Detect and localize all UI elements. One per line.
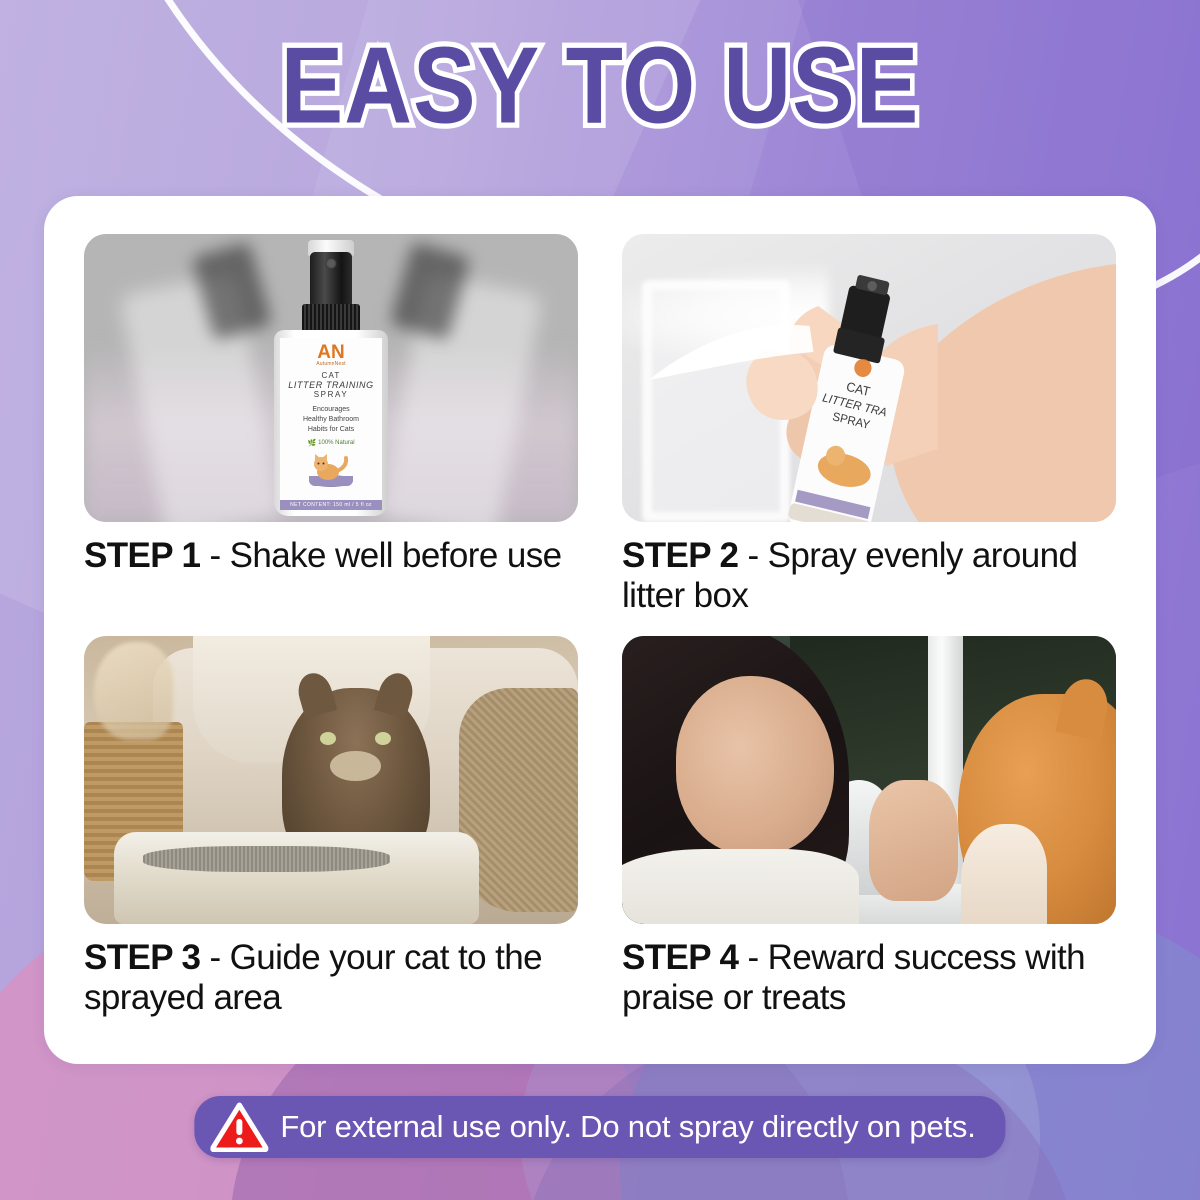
step-caption-2: STEP 2 - Spray evenly around litter box	[622, 536, 1116, 616]
label-line-litter-training: LITTER TRAINING	[288, 380, 374, 390]
page-title: EASY TO USE	[0, 25, 1200, 149]
warning-text: For external use only. Do not spray dire…	[280, 1109, 975, 1145]
step-lead-3: STEP 3	[84, 938, 200, 977]
woman-hand-with-treat	[869, 780, 958, 901]
label-line-spray: SPRAY	[314, 390, 349, 399]
step-lead-2: STEP 2	[622, 536, 738, 575]
hand-holding-bottle-illustration: CAT LITTER TRA SPRAY	[622, 234, 1116, 522]
brand-name: AutumnNest	[316, 362, 346, 367]
brand-logo: AN AutumnNest	[316, 343, 346, 367]
step-item-2: CAT LITTER TRA SPRAY ST	[622, 234, 1116, 636]
cat-in-litterbox-illustration	[303, 450, 359, 488]
pampas-grass-decor	[94, 642, 173, 740]
label-benefit-2: Healthy Bathroom	[303, 415, 359, 425]
cat-litter-granules	[143, 846, 390, 872]
warning-banner: For external use only. Do not spray dire…	[194, 1096, 1005, 1158]
cat-eye-left	[320, 732, 336, 745]
step-lead-4: STEP 4	[622, 938, 738, 977]
cat-muzzle	[330, 751, 380, 781]
product-bottle: AN AutumnNest CAT LITTER TRAINING SPRAY …	[268, 240, 394, 516]
ginger-cat-chest	[961, 824, 1046, 924]
shaking-spray-bottle-photo: AN AutumnNest CAT LITTER TRAINING SPRAY …	[84, 234, 578, 522]
steps-grid: AN AutumnNest CAT LITTER TRAINING SPRAY …	[44, 196, 1156, 1064]
label-benefit-3: Habits for Cats	[303, 425, 359, 435]
label-benefit-1: Encourages	[303, 405, 359, 415]
step-item-4: STEP 4 - Reward success with praise or t…	[622, 636, 1116, 1038]
step-item-1: AN AutumnNest CAT LITTER TRAINING SPRAY …	[84, 234, 578, 636]
step-lead-1: STEP 1	[84, 536, 200, 575]
bottle-collar	[302, 304, 360, 332]
woman-face	[676, 676, 834, 855]
label-line-cat: CAT	[321, 371, 340, 380]
cat-eye-right	[375, 732, 391, 745]
warning-triangle-icon	[210, 1102, 268, 1152]
brand-logo-mark: AN	[317, 343, 344, 362]
leaf-icon: 🌿	[307, 439, 316, 447]
woman-white-sweater	[622, 849, 859, 924]
natural-badge-text: 100% Natural	[318, 440, 354, 446]
step-text-1: - Shake well before use	[200, 536, 561, 575]
bottle-body: AN AutumnNest CAT LITTER TRAINING SPRAY …	[274, 330, 388, 516]
label-benefits: Encourages Healthy Bathroom Habits for C…	[303, 405, 359, 435]
hand-spraying-bottle-photo: CAT LITTER TRA SPRAY	[622, 234, 1116, 522]
natural-badge: 🌿 100% Natural	[307, 439, 354, 447]
step-item-3: STEP 3 - Guide your cat to the sprayed a…	[84, 636, 578, 1038]
steps-card: AN AutumnNest CAT LITTER TRAINING SPRAY …	[44, 196, 1156, 1064]
promo-infographic: EASY TO USE	[0, 0, 1200, 1200]
step-caption-3: STEP 3 - Guide your cat to the sprayed a…	[84, 938, 578, 1018]
cat-in-litter-box-photo	[84, 636, 578, 924]
woman-rewarding-cat-photo	[622, 636, 1116, 924]
bottle-pump-head	[310, 252, 352, 308]
step-caption-1: STEP 1 - Shake well before use	[84, 536, 578, 576]
ginger-cat	[958, 694, 1116, 924]
bottle-label: AN AutumnNest CAT LITTER TRAINING SPRAY …	[280, 338, 382, 510]
label-net-content: NET CONTENT: 150 ml / 5 fl oz	[280, 500, 382, 510]
step-caption-4: STEP 4 - Reward success with praise or t…	[622, 938, 1116, 1018]
